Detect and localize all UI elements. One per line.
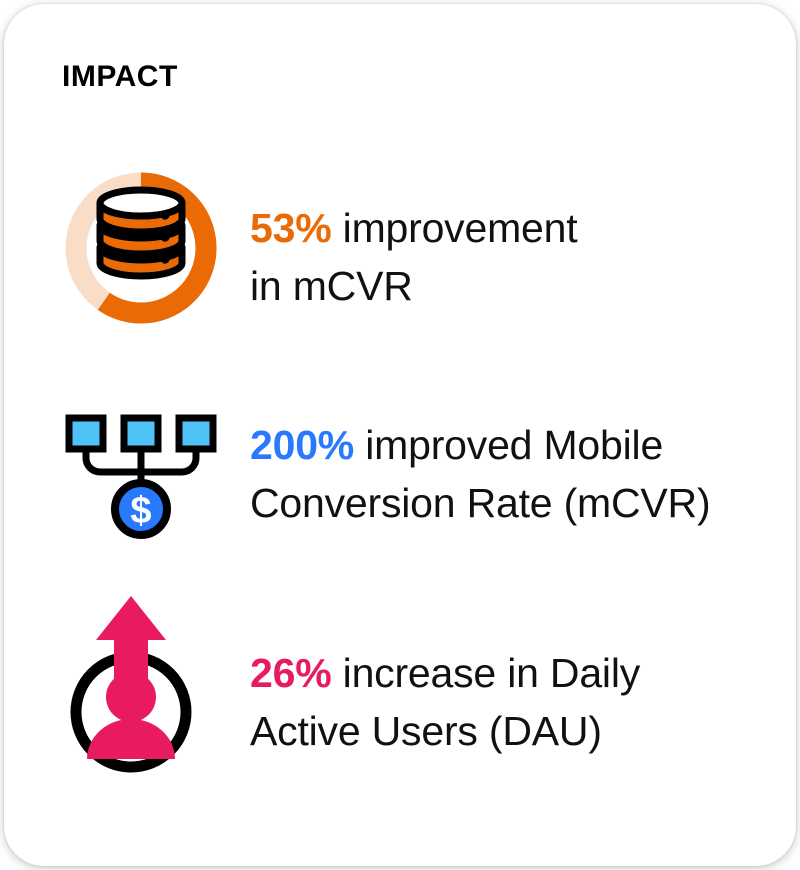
- database-donut-icon: [60, 159, 236, 339]
- conversion-funnel-icon: $: [60, 404, 236, 549]
- stat-text: 53% improvement in mCVR: [250, 199, 577, 315]
- user-growth-arrow-icon: [60, 584, 236, 774]
- funnel-node-3: [179, 418, 213, 449]
- stat-text: 26% increase in Daily Active Users (DAU): [250, 644, 640, 760]
- user-growth-diagram: [60, 584, 236, 774]
- stat-percent: 26%: [250, 650, 331, 696]
- stat-text: 200% improved Mobile Conversion Rate (mC…: [250, 416, 710, 532]
- stat-percent: 53%: [250, 205, 331, 251]
- stat-percent: 200%: [250, 422, 354, 468]
- funnel-diagram: $: [60, 404, 236, 549]
- dollar-sign-icon: $: [130, 490, 151, 532]
- page-title: IMPACT: [62, 62, 178, 92]
- donut-gauge: [60, 159, 236, 339]
- funnel-node-1: [69, 418, 103, 449]
- funnel-node-2: [124, 418, 158, 449]
- database-cylinder: [100, 190, 182, 276]
- impact-card: IMPACT 5: [4, 4, 796, 866]
